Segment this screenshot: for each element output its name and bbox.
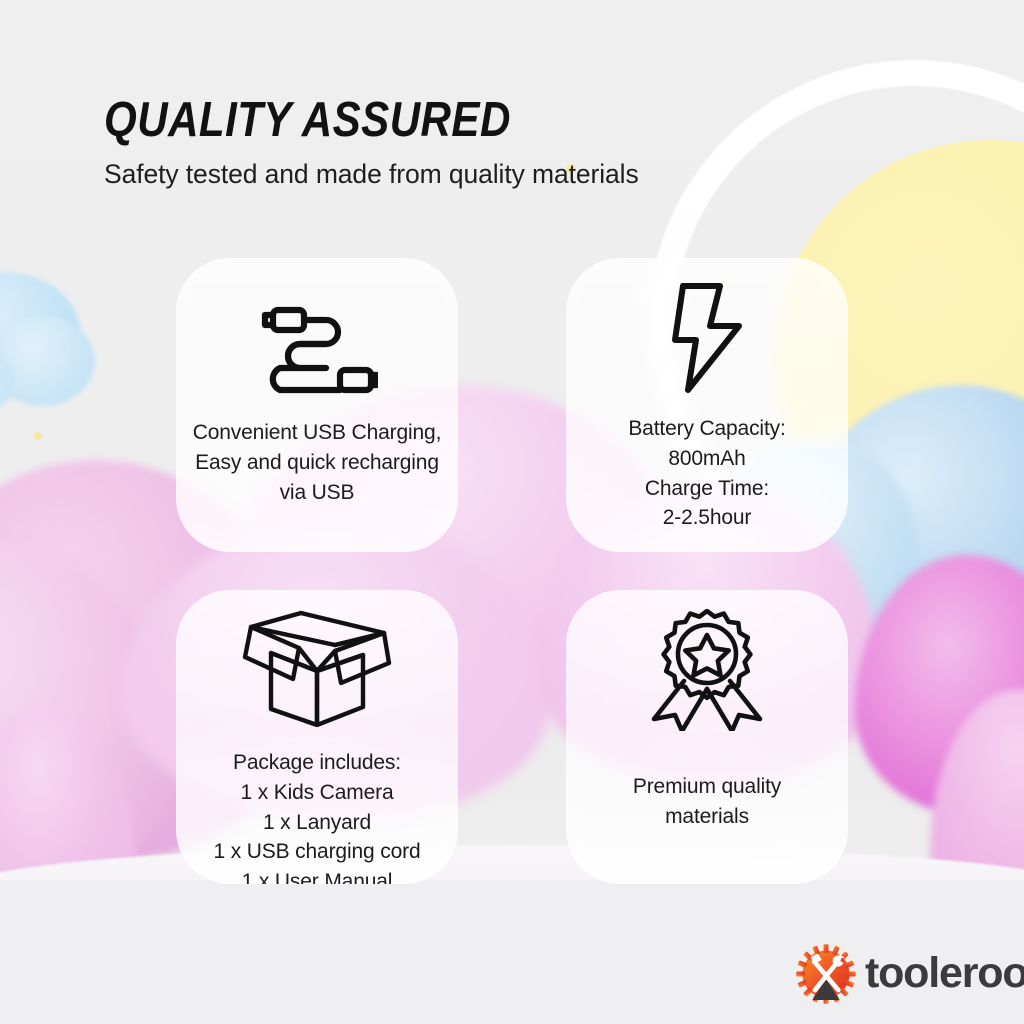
usb-cable-icon	[256, 296, 378, 404]
yellow-dot-accent	[34, 432, 42, 440]
pink-vivid-blob-right	[855, 555, 1024, 815]
page-subtitle: Safety tested and made from quality mate…	[104, 159, 864, 189]
blue-cloud-shape-b	[0, 316, 95, 406]
page-title: QUALITY ASSURED	[104, 96, 758, 145]
feature-card-text: Convenient USB Charging, Easy and quick …	[183, 418, 452, 507]
pink-cone-right	[930, 690, 1024, 920]
blue-cloud-shape-a	[0, 272, 80, 392]
pink-cone-left	[0, 710, 135, 930]
lightning-bolt-icon	[668, 284, 746, 392]
pink-blob-left-secondary	[0, 545, 170, 905]
gear-with-crossed-tools-icon	[795, 943, 857, 1005]
blue-cloud-shape-c	[0, 340, 15, 420]
open-box-icon	[241, 614, 393, 722]
feature-card-text: Package includes: 1 x Kids Camera 1 x La…	[204, 748, 431, 884]
promo-graphic: QUALITY ASSURED Safety tested and made f…	[0, 0, 1024, 1024]
feature-card-battery: Battery Capacity: 800mAh Charge Time: 2-…	[566, 258, 848, 552]
brand-logo: tooleroo	[795, 943, 1024, 1005]
award-ribbon-icon	[644, 616, 770, 724]
brand-wordmark: tooleroo	[865, 952, 1024, 995]
header: QUALITY ASSURED Safety tested and made f…	[104, 96, 864, 189]
feature-card-text: Premium quality materials	[623, 772, 791, 832]
feature-card-text: Battery Capacity: 800mAh Charge Time: 2-…	[618, 414, 795, 533]
feature-card-package: Package includes: 1 x Kids Camera 1 x La…	[176, 590, 458, 884]
feature-card-grid: Convenient USB Charging, Easy and quick …	[176, 258, 866, 884]
feature-card-usb-charging: Convenient USB Charging, Easy and quick …	[176, 258, 458, 552]
feature-card-premium: Premium quality materials	[566, 590, 848, 884]
